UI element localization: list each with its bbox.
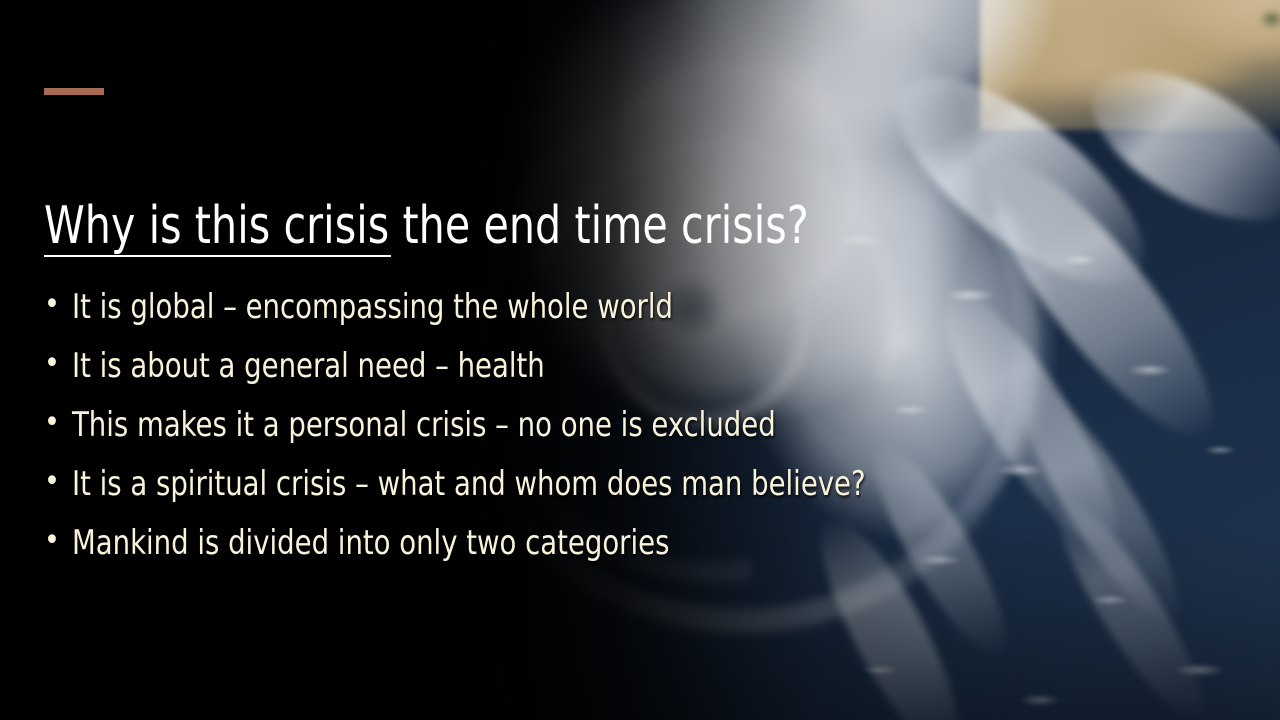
- presentation-slide: Why is this crisis the end time crisis? …: [0, 0, 1280, 720]
- list-item-label: It is about a general need – health: [72, 345, 545, 389]
- bullet-dot-icon: •: [44, 345, 72, 383]
- bullet-list: • It is global – encompassing the whole …: [44, 286, 1074, 581]
- list-item: • Mankind is divided into only two categ…: [44, 522, 1074, 581]
- bullet-dot-icon: •: [44, 404, 72, 442]
- list-item-label: It is a spiritual crisis – what and whom…: [72, 463, 866, 507]
- page-title: Why is this crisis the end time crisis?: [44, 198, 809, 254]
- list-item-label: This makes it a personal crisis – no one…: [72, 404, 776, 448]
- bullet-dot-icon: •: [44, 522, 72, 560]
- list-item: • It is a spiritual crisis – what and wh…: [44, 463, 1074, 522]
- bullet-dot-icon: •: [44, 463, 72, 501]
- slide-content: Why is this crisis the end time crisis? …: [0, 0, 1280, 720]
- list-item-label: It is global – encompassing the whole wo…: [72, 286, 673, 330]
- list-item: • It is about a general need – health: [44, 345, 1074, 404]
- title-underline-rule: [44, 255, 391, 257]
- accent-bar: [44, 88, 104, 95]
- list-item-label: Mankind is divided into only two categor…: [72, 522, 669, 566]
- bullet-dot-icon: •: [44, 286, 72, 324]
- list-item: • It is global – encompassing the whole …: [44, 286, 1074, 345]
- list-item: • This makes it a personal crisis – no o…: [44, 404, 1074, 463]
